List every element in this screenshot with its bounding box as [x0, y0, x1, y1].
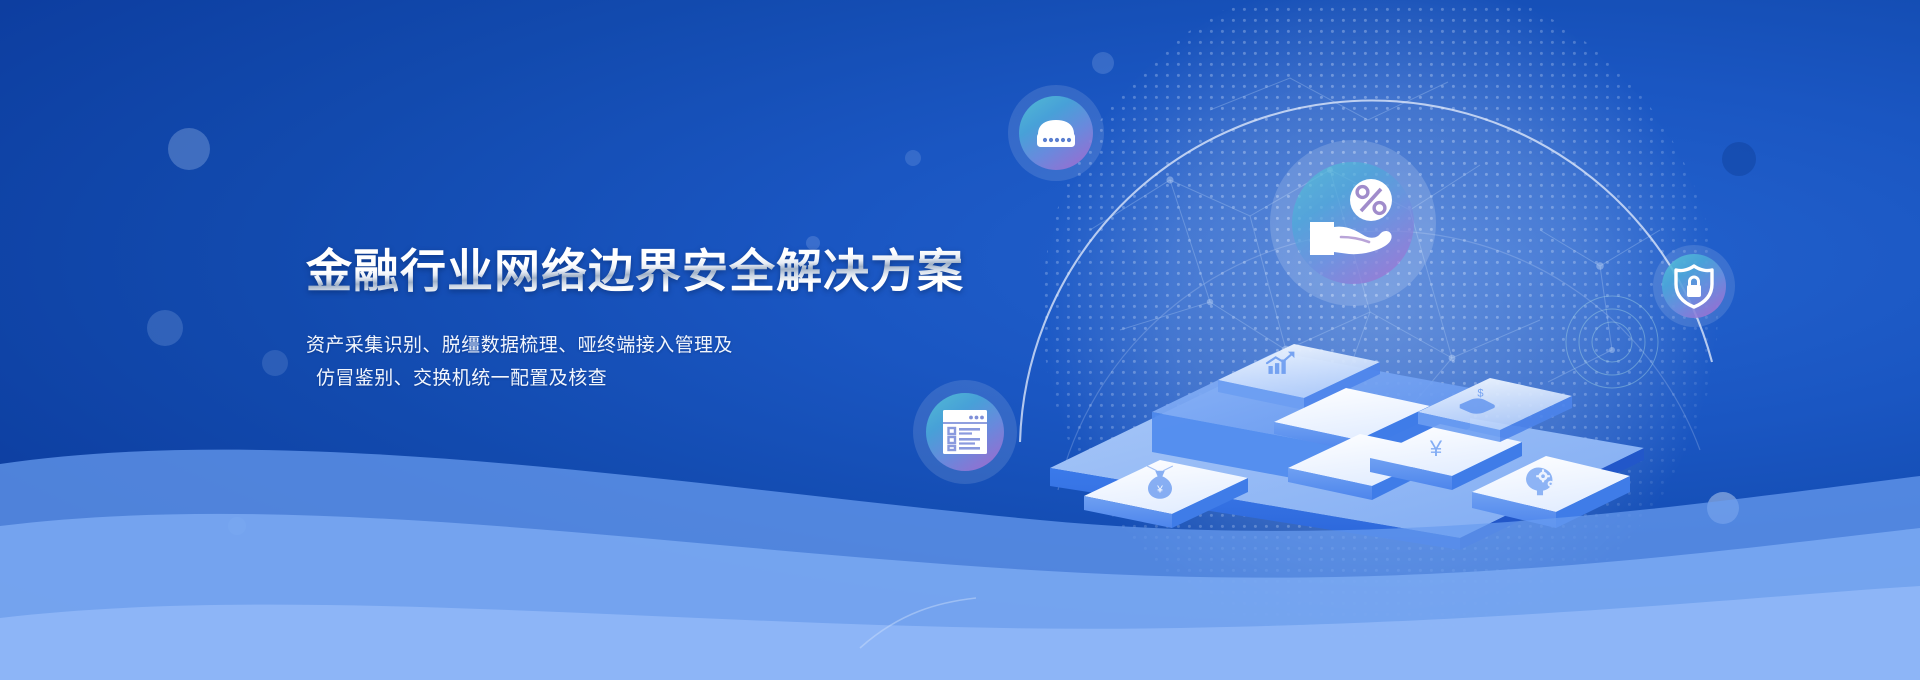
shield-lock-icon — [1673, 263, 1715, 309]
bokeh-circle — [228, 517, 246, 535]
document-list-icon — [938, 405, 992, 459]
svg-text:¥: ¥ — [1429, 436, 1443, 461]
router-badge — [1008, 85, 1104, 181]
growth-chart-tile — [1218, 344, 1380, 410]
subtitle-line-2: 仿冒鉴别、交换机统一配置及核查 — [306, 362, 1026, 395]
hero-banner: ¥ — [0, 0, 1920, 680]
hand-dollar-tile: $ — [1418, 378, 1572, 442]
svg-text:$: $ — [1477, 387, 1483, 399]
page-title: 金融行业网络边界安全解决方案 — [306, 244, 1026, 298]
ai-brain-tile — [1472, 456, 1630, 528]
bokeh-circle — [147, 310, 183, 346]
shield-badge — [1653, 245, 1735, 327]
yen-tile: ¥ — [1370, 424, 1522, 490]
bokeh-circle — [262, 350, 288, 376]
hero-text-block: 金融行业网络边界安全解决方案 资产采集识别、脱缰数据梳理、哑终端接入管理及 仿冒… — [306, 244, 1026, 395]
bokeh-circle — [168, 128, 210, 170]
finance-badge — [1270, 140, 1436, 306]
isometric-platform: ¥ — [1040, 300, 1660, 550]
bokeh-circle — [1722, 142, 1756, 176]
page-subtitle: 资产采集识别、脱缰数据梳理、哑终端接入管理及 仿冒鉴别、交换机统一配置及核查 — [306, 329, 1026, 395]
money-bag-tile: ¥ — [1084, 460, 1248, 528]
bokeh-circle — [905, 150, 921, 166]
bokeh-circle — [1092, 52, 1114, 74]
subtitle-line-1: 资产采集识别、脱缰数据梳理、哑终端接入管理及 — [306, 335, 733, 356]
blank-tile-a — [1274, 388, 1430, 452]
router-icon — [1031, 108, 1081, 158]
blank-tile-b — [1288, 434, 1444, 500]
document-badge — [913, 380, 1017, 484]
hand-percent-icon — [1301, 175, 1405, 271]
bokeh-circle — [1707, 492, 1739, 524]
dotted-network-globe — [1000, 0, 1760, 680]
svg-text:¥: ¥ — [1156, 484, 1163, 495]
